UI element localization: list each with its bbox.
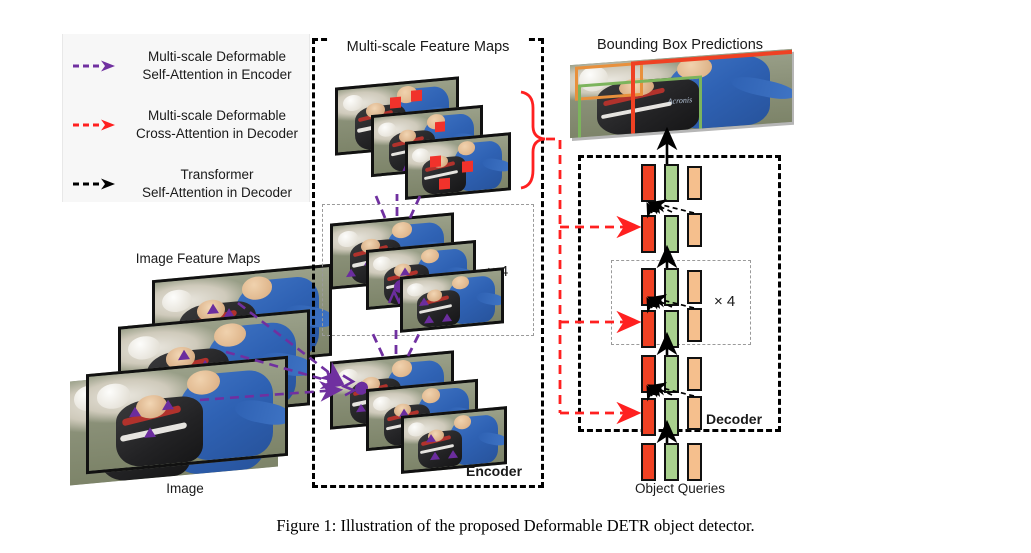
attention-marker (439, 178, 450, 190)
image-feature-map-level-1 (86, 356, 288, 474)
decoder-repeat-label: × 4 (714, 292, 735, 312)
sample-marker (178, 349, 190, 360)
query-box-red (641, 164, 656, 202)
sample-marker (426, 434, 436, 443)
sample-marker (424, 315, 434, 324)
image-feature-maps-title: Image Feature Maps (78, 250, 318, 268)
legend-item-decoder-cross-attention-line2: Cross-Attention in Decoder (125, 125, 309, 143)
query-box-green (664, 215, 679, 253)
red-dashed-arrow-icon (63, 118, 125, 132)
query-box-red (641, 310, 656, 348)
legend-item-decoder-self-attention-line2: Self-Attention in Decoder (125, 184, 309, 202)
query-box-red (641, 268, 656, 306)
query-box-green (664, 443, 679, 481)
attention-marker (390, 97, 401, 109)
legend-item-decoder-cross-attention: Multi-scale Deformable Cross-Attention i… (63, 107, 309, 143)
query-box-peach (687, 213, 702, 247)
encoder-mid-map-level-1 (400, 267, 504, 332)
attention-marker (430, 156, 441, 168)
sample-marker (442, 313, 452, 322)
query-box-green (664, 398, 679, 436)
legend-item-decoder-cross-attention-line1: Multi-scale Deformable (125, 107, 309, 125)
legend-item-encoder-self-attention: Multi-scale Deformable Self-Attention in… (63, 48, 309, 84)
query-box-red (641, 398, 656, 436)
query-box-peach (687, 357, 702, 391)
encoder-output-map-level-1 (405, 132, 511, 200)
query-box-green (664, 164, 679, 202)
query-box-peach (687, 396, 702, 430)
query-box-peach (687, 443, 702, 481)
query-box-green (664, 355, 679, 393)
sample-marker (162, 399, 174, 410)
attention-marker (411, 90, 422, 102)
query-box-peach (687, 270, 702, 304)
object-queries-label: Object Queries (600, 480, 760, 498)
decoder-label: Decoder (706, 410, 762, 429)
legend-panel: Multi-scale Deformable Self-Attention in… (62, 34, 310, 202)
sample-marker (419, 297, 429, 306)
sample-marker (144, 427, 156, 438)
sample-marker (346, 268, 356, 277)
sample-marker (400, 267, 410, 276)
query-box-green (664, 268, 679, 306)
attention-marker (435, 121, 445, 132)
encoder-panel-title: Multi-scale Feature Maps (326, 38, 530, 58)
sample-marker (129, 406, 141, 417)
image-label: Image (110, 480, 260, 498)
purple-dashed-arrow-icon (63, 59, 125, 73)
query-box-red (641, 443, 656, 481)
bounding-box-prediction-image: Acronis (570, 49, 792, 138)
query-box-red (641, 355, 656, 393)
legend-item-encoder-self-attention-line1: Multi-scale Deformable (125, 48, 309, 66)
query-box-red (641, 215, 656, 253)
attention-marker (462, 161, 473, 173)
legend-item-decoder-self-attention-line1: Transformer (125, 166, 309, 184)
encoder-label: Encoder (466, 462, 522, 481)
sample-marker (356, 403, 366, 412)
figure-caption: Figure 1: Illustration of the proposed D… (0, 516, 1031, 536)
sample-marker (448, 450, 458, 459)
black-dashed-arrow-icon (63, 177, 125, 191)
legend-item-encoder-self-attention-line2: Self-Attention in Encoder (125, 66, 309, 84)
query-box-peach (687, 308, 702, 342)
sample-marker (430, 451, 440, 460)
query-box-green (664, 310, 679, 348)
bbox-red (631, 49, 792, 138)
query-box-peach (687, 166, 702, 200)
sample-marker (207, 303, 219, 314)
legend-item-decoder-self-attention: Transformer Self-Attention in Decoder (63, 166, 309, 202)
